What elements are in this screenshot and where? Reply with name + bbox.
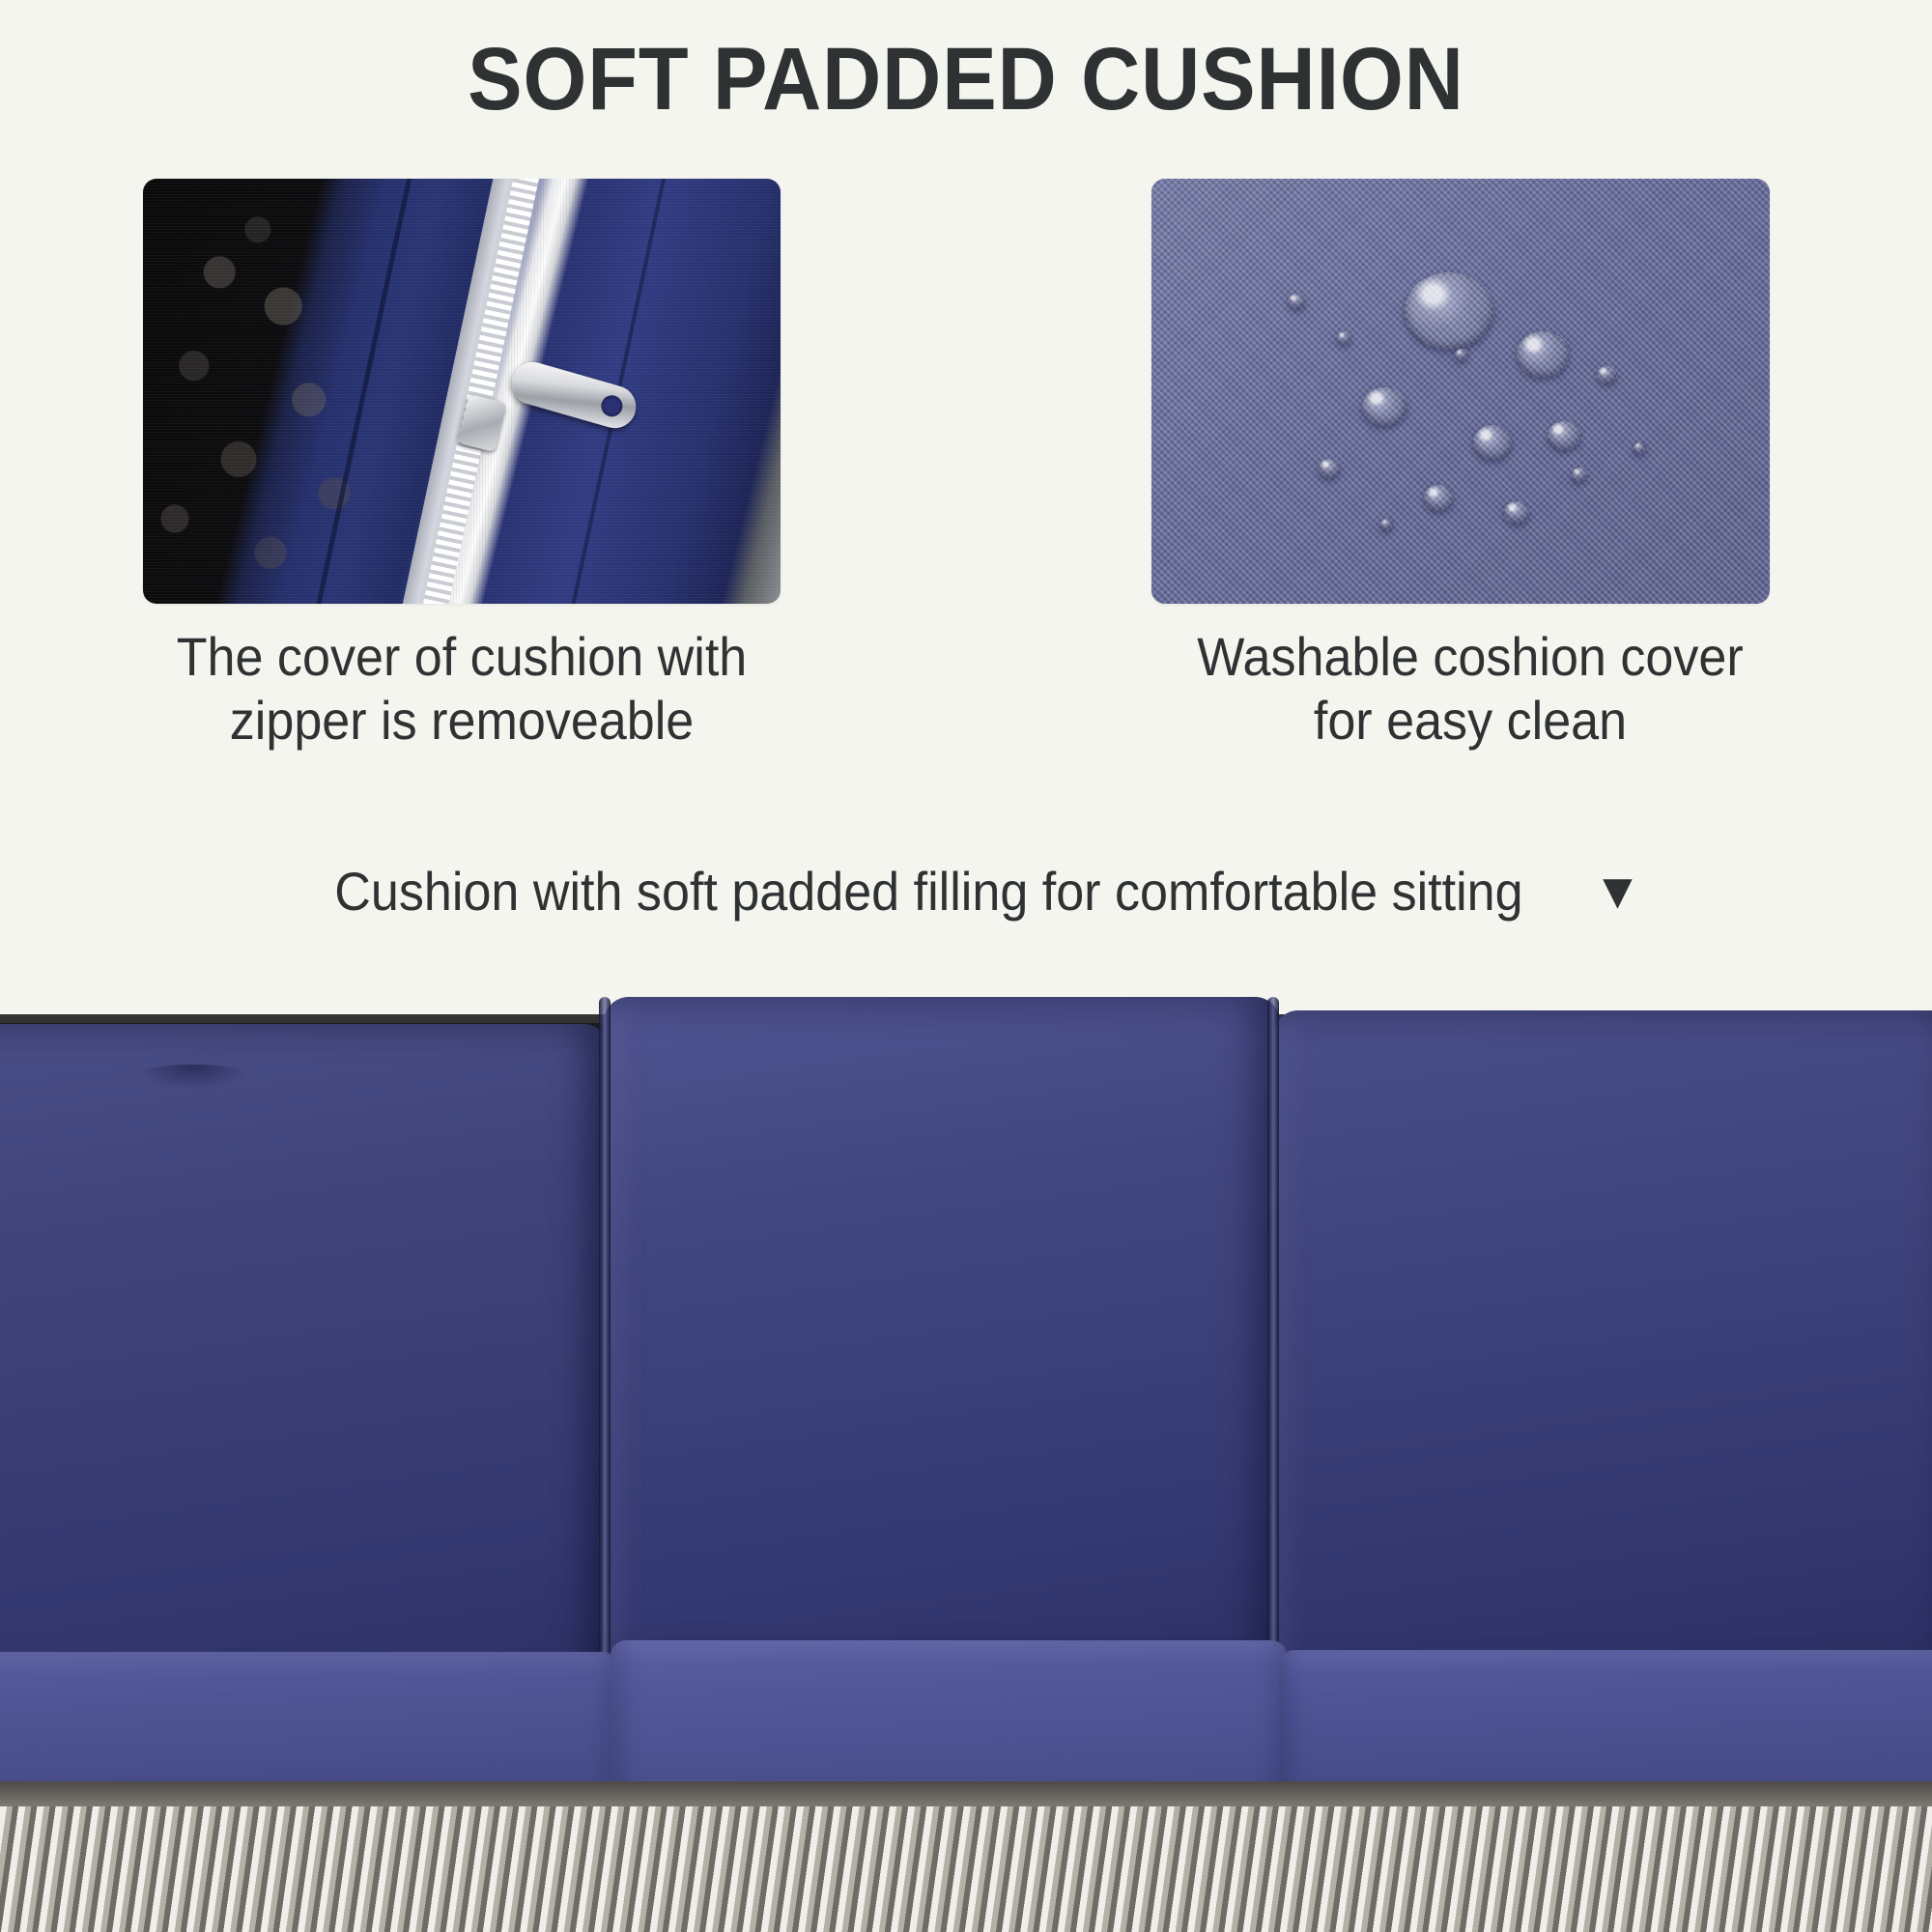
zipper-cushion-photo	[143, 179, 781, 604]
caption-line-2: for easy clean	[1174, 689, 1767, 753]
water-droplet	[1319, 459, 1340, 478]
water-droplet	[1405, 272, 1493, 350]
back-cushion-right	[1273, 1010, 1932, 1677]
down-triangle-icon: ▼	[1593, 867, 1642, 917]
cushion-seam-right	[1267, 997, 1279, 1673]
cushion-seam-line	[304, 179, 419, 604]
water-droplet	[1455, 349, 1468, 361]
water-droplet	[1380, 519, 1393, 530]
water-droplet	[1288, 294, 1305, 309]
water-droplet	[1504, 501, 1529, 524]
sofa-cushion-photo	[0, 976, 1932, 1932]
feature-caption-washable: Washable coshion cover for easy clean	[1174, 625, 1767, 753]
caption-line-1: Washable coshion cover	[1174, 625, 1767, 689]
water-droplet	[1517, 331, 1569, 378]
rattan-frame-edge	[0, 1781, 1932, 1806]
page-title: SOFT PADDED CUSHION	[77, 29, 1855, 130]
water-droplet	[1572, 468, 1587, 482]
feature-caption-zipper: The cover of cushion with zipper is remo…	[165, 625, 758, 753]
caption-line-2: zipper is removeable	[165, 689, 758, 753]
water-droplet	[1473, 425, 1512, 460]
water-droplets-photo	[1151, 179, 1770, 604]
feature-washable-cover: Washable coshion cover for easy clean	[1151, 179, 1789, 753]
cushion-dimple	[135, 1065, 251, 1090]
feature-row: The cover of cushion with zipper is remo…	[0, 179, 1932, 778]
infographic-page: SOFT PADDED CUSHION The cover of cushion…	[0, 0, 1932, 1932]
rattan-frame-base	[0, 1806, 1932, 1932]
water-droplet	[1634, 442, 1646, 454]
water-droplet	[1548, 421, 1580, 450]
tagline-row: Cushion with soft padded filling for com…	[0, 860, 1932, 923]
water-droplet	[1362, 387, 1406, 426]
water-droplet	[1597, 366, 1616, 384]
back-cushion-left	[0, 1024, 609, 1690]
water-droplet	[1424, 485, 1453, 511]
cushion-seam-left	[599, 997, 611, 1673]
caption-line-1: The cover of cushion with	[165, 625, 758, 689]
back-cushion-middle	[604, 997, 1280, 1663]
tagline-text: Cushion with soft padded filling for com…	[334, 860, 1522, 923]
water-droplet	[1337, 331, 1351, 345]
feature-zipper-cover: The cover of cushion with zipper is remo…	[143, 179, 781, 753]
